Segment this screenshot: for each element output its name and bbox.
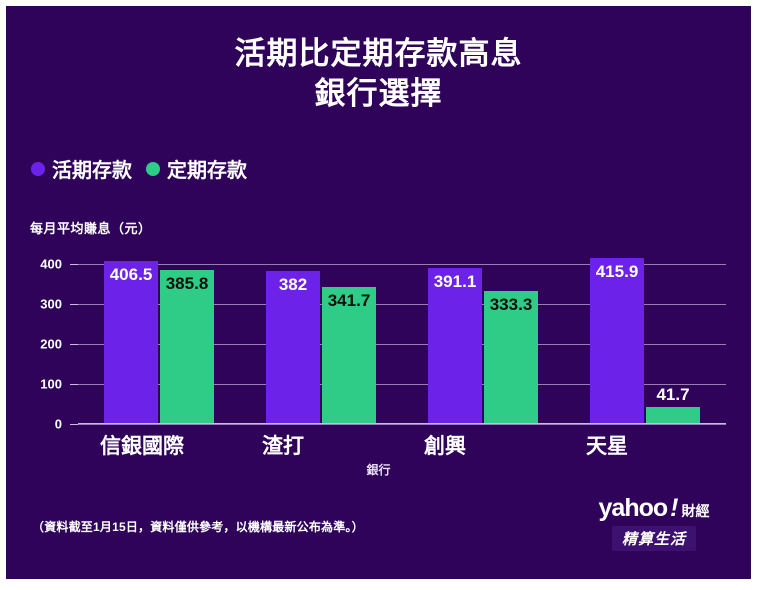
yahoo-finance-logo: yahoo ! 財經 精算生活 <box>579 494 729 551</box>
y-axis-tick-label: 300 <box>20 297 62 312</box>
y-axis-tick-label: 0 <box>20 417 62 432</box>
bar-value-label: 41.7 <box>656 385 689 405</box>
y-axis-tick-mark <box>70 384 78 385</box>
infographic-canvas: 活期比定期存款高息 銀行選擇 活期存款 定期存款 每月平均賺息（元） 40030… <box>6 6 751 579</box>
bar-value-label: 382 <box>279 275 307 295</box>
bar-value-label: 341.7 <box>328 291 371 311</box>
bar-group: 415.941.7 <box>564 264 726 424</box>
x-axis-category-label: 天星 <box>564 430 726 460</box>
x-axis-category-label: 信銀國際 <box>78 430 240 460</box>
y-axis-tick-label: 200 <box>20 337 62 352</box>
bar-demand-deposit[interactable]: 415.9 <box>590 258 644 424</box>
y-axis-tick-mark <box>70 344 78 345</box>
legend-label: 定期存款 <box>167 154 247 183</box>
plot-area: 4003002001000 406.5385.8382341.7391.1333… <box>78 264 726 424</box>
logo-wordmark: yahoo ! 財經 <box>579 494 729 523</box>
bar-groups: 406.5385.8382341.7391.1333.3415.941.7 <box>78 264 726 424</box>
bar-value-label: 385.8 <box>166 274 209 294</box>
legend-dot-icon <box>146 162 160 176</box>
legend-label: 活期存款 <box>52 154 132 183</box>
bar-group: 382341.7 <box>240 264 402 424</box>
logo-exclamation-icon: ! <box>670 494 678 523</box>
bar-value-label: 333.3 <box>490 295 533 315</box>
title-line-1: 活期比定期存款高息 <box>6 34 751 74</box>
x-axis-category-label: 渣打 <box>240 430 402 460</box>
bar-group: 406.5385.8 <box>78 264 240 424</box>
legend-dot-icon <box>31 162 45 176</box>
bar-demand-deposit[interactable]: 391.1 <box>428 268 482 424</box>
logo-badge-text: 精算生活 <box>612 526 696 551</box>
y-axis-tick-mark <box>70 304 78 305</box>
bar-group: 391.1333.3 <box>402 264 564 424</box>
x-axis-category-label: 創興 <box>402 430 564 460</box>
logo-section-text: 財經 <box>681 501 709 521</box>
footnote-text: （資料截至1月15日，資料僅供參考，以機構最新公布為準。） <box>32 518 364 535</box>
x-axis-title: 銀行 <box>6 461 751 478</box>
bar-value-label: 415.9 <box>596 262 639 282</box>
bar-time-deposit[interactable]: 385.8 <box>160 270 214 424</box>
page-title: 活期比定期存款高息 銀行選擇 <box>6 34 751 114</box>
y-axis-tick-mark <box>70 264 78 265</box>
category-labels: 信銀國際渣打創興天星 <box>78 430 726 460</box>
y-axis-title: 每月平均賺息（元） <box>30 218 152 237</box>
logo-brand-text: yahoo <box>599 494 668 523</box>
title-line-2: 銀行選擇 <box>6 74 751 114</box>
y-axis-tick-mark <box>70 424 78 425</box>
gridline <box>78 424 726 425</box>
y-axis-tick-label: 100 <box>20 377 62 392</box>
chart-legend: 活期存款 定期存款 <box>31 154 247 183</box>
bar-demand-deposit[interactable]: 406.5 <box>104 261 158 424</box>
bar-demand-deposit[interactable]: 382 <box>266 271 320 424</box>
bar-time-deposit[interactable]: 333.3 <box>484 291 538 424</box>
y-axis-tick-label: 400 <box>20 257 62 272</box>
legend-item-demand-deposit: 活期存款 <box>31 154 132 183</box>
x-axis-baseline <box>78 423 726 424</box>
legend-item-time-deposit: 定期存款 <box>146 154 247 183</box>
bar-value-label: 391.1 <box>434 272 477 292</box>
bar-value-label: 406.5 <box>110 265 153 285</box>
bar-time-deposit[interactable]: 41.7 <box>646 407 700 424</box>
bar-time-deposit[interactable]: 341.7 <box>322 287 376 424</box>
